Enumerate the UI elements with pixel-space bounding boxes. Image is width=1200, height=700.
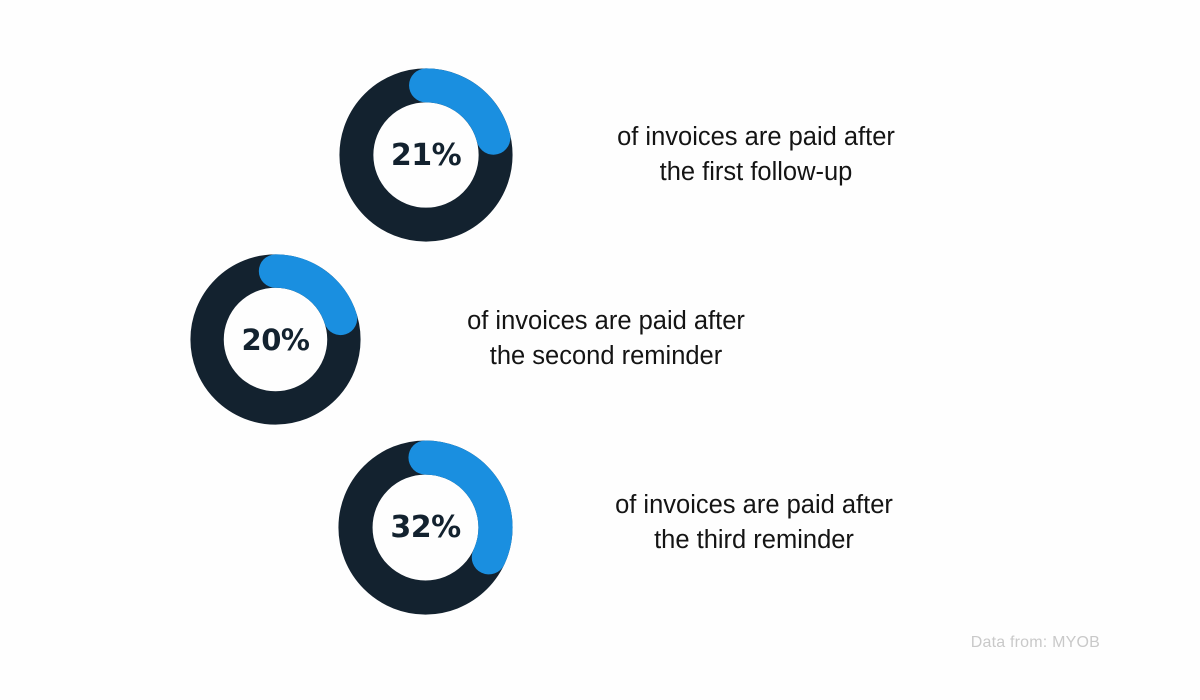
infographic-canvas: 21% of invoices are paid after the first… [0, 0, 1200, 700]
caption-line-1: of invoices are paid after [560, 120, 952, 155]
caption-second-reminder: of invoices are paid after the second re… [410, 304, 802, 374]
donut-svg [338, 440, 513, 615]
donut-svg [339, 68, 513, 242]
donut-chart-second-reminder: 20% [190, 254, 361, 425]
donut-chart-third-reminder: 32% [338, 440, 513, 615]
data-source-note: Data from: MYOB [971, 634, 1100, 652]
donut-chart-first-follow-up: 21% [339, 68, 513, 242]
donut-svg [190, 254, 361, 425]
caption-line-2: the third reminder [558, 523, 950, 558]
caption-third-reminder: of invoices are paid after the third rem… [558, 488, 950, 558]
caption-line-1: of invoices are paid after [410, 304, 802, 339]
caption-line-2: the second reminder [410, 339, 802, 374]
caption-first-follow-up: of invoices are paid after the first fol… [560, 120, 952, 190]
caption-line-2: the first follow-up [560, 155, 952, 190]
caption-line-1: of invoices are paid after [558, 488, 950, 523]
